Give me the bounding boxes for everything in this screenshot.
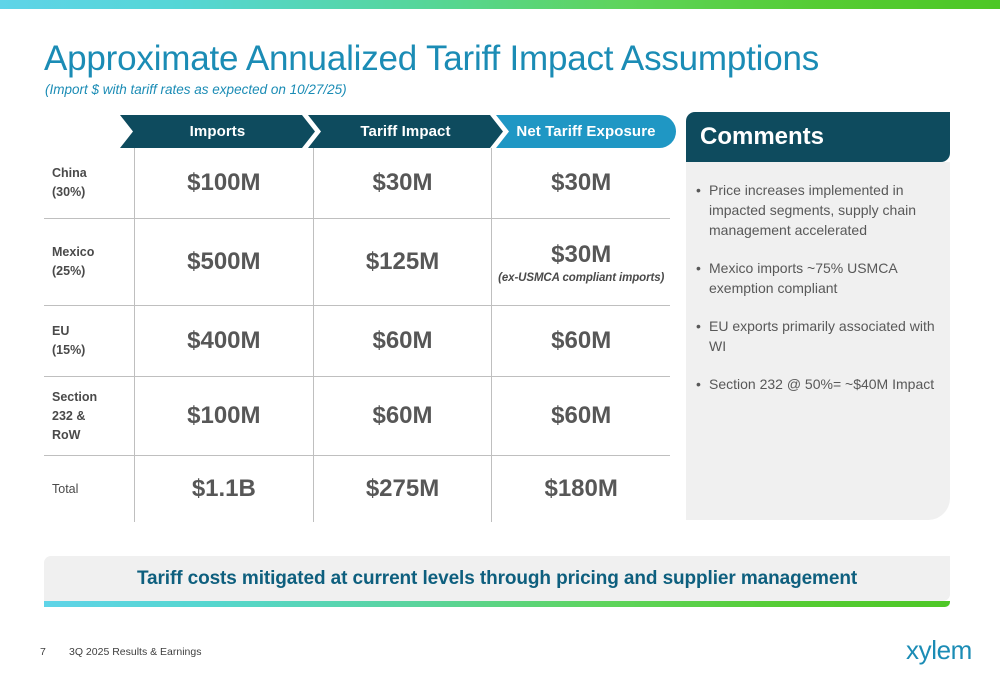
row-label-line1: Total xyxy=(52,480,134,499)
list-item-text: Section 232 @ 50%= ~$40M Impact xyxy=(709,374,938,394)
table-row-total: Total $1.1B $275M $180M xyxy=(44,455,670,522)
cell-imports: $500M xyxy=(134,219,313,305)
cell-tariff-impact: $60M xyxy=(313,377,492,455)
cell-net-exposure-value: $30M xyxy=(551,241,611,269)
list-item-text: Price increases implemented in impacted … xyxy=(709,180,938,240)
bullet-dot-icon: • xyxy=(696,258,709,298)
cell-net-exposure-total-value: $180M xyxy=(544,475,617,503)
comments-heading-label: Comments xyxy=(700,123,824,151)
table-row: China (30%) $100M $30M $30M xyxy=(44,148,670,218)
column-header-tariff-impact-label: Tariff Impact xyxy=(360,123,450,140)
row-label-section-232-row: Section 232 & RoW xyxy=(44,377,134,455)
cell-net-exposure: $60M xyxy=(491,377,670,455)
row-label-china: China (30%) xyxy=(44,148,134,218)
row-label-line2: (25%) xyxy=(52,262,134,281)
cell-imports: $100M xyxy=(134,148,313,218)
cell-imports-total: $1.1B xyxy=(134,456,313,522)
row-label-line1: Mexico xyxy=(52,243,134,262)
column-header-imports: Imports xyxy=(120,115,315,148)
row-label-eu: EU (15%) xyxy=(44,306,134,376)
summary-banner-text: Tariff costs mitigated at current levels… xyxy=(137,568,857,590)
cell-imports-total-value: $1.1B xyxy=(192,475,256,503)
column-header-net-tariff-exposure-label: Net Tariff Exposure xyxy=(516,123,655,140)
xylem-logo: xylem xyxy=(906,635,972,665)
bullet-dot-icon: • xyxy=(696,316,709,356)
cell-net-exposure-value: $60M xyxy=(551,402,611,430)
row-label-line1: Section xyxy=(52,388,134,407)
cell-tariff-impact-value: $125M xyxy=(366,248,439,276)
table-row: Section 232 & RoW $100M $60M $60M xyxy=(44,376,670,455)
bullet-dot-icon: • xyxy=(696,180,709,240)
cell-imports: $100M xyxy=(134,377,313,455)
column-header-tariff-impact: Tariff Impact xyxy=(308,115,503,148)
cell-net-exposure: $30M xyxy=(491,148,670,218)
list-item: • Section 232 @ 50%= ~$40M Impact xyxy=(696,374,938,394)
footer-deck-name: 3Q 2025 Results & Earnings xyxy=(69,646,202,658)
bullet-dot-icon: • xyxy=(696,374,709,394)
list-item: • Mexico imports ~75% USMCA exemption co… xyxy=(696,258,938,298)
page-number: 7 xyxy=(40,646,46,658)
cell-net-exposure-value: $60M xyxy=(551,327,611,355)
tariff-table: China (30%) $100M $30M $30M Mexico (25%)… xyxy=(44,148,670,522)
slide-canvas: Approximate Annualized Tariff Impact Ass… xyxy=(0,0,1000,685)
cell-tariff-impact-value: $60M xyxy=(372,327,432,355)
column-header-imports-label: Imports xyxy=(190,123,246,140)
comments-header: Comments xyxy=(686,112,950,162)
cell-net-exposure-total: $180M xyxy=(491,456,670,522)
cell-tariff-impact: $30M xyxy=(313,148,492,218)
banner-gradient-rule xyxy=(44,601,950,607)
row-label-line2: (15%) xyxy=(52,341,134,360)
list-item-text: EU exports primarily associated with WI xyxy=(709,316,938,356)
row-label-line1: China xyxy=(52,164,134,183)
cell-tariff-impact-total: $275M xyxy=(313,456,492,522)
cell-net-exposure: $60M xyxy=(491,306,670,376)
column-header-net-tariff-exposure: Net Tariff Exposure xyxy=(496,115,676,148)
comments-body: • Price increases implemented in impacte… xyxy=(686,162,950,520)
cell-net-exposure-value: $30M xyxy=(551,169,611,197)
row-label-line3: RoW xyxy=(52,426,134,445)
top-gradient-rule xyxy=(0,0,1000,9)
cell-imports: $400M xyxy=(134,306,313,376)
cell-imports-value: $100M xyxy=(187,169,260,197)
comments-panel: Comments • Price increases implemented i… xyxy=(686,112,950,520)
cell-net-exposure: $30M (ex-USMCA compliant imports) xyxy=(491,219,670,305)
row-label-line2: (30%) xyxy=(52,183,134,202)
summary-banner: Tariff costs mitigated at current levels… xyxy=(44,556,950,601)
row-label-line2: 232 & xyxy=(52,407,134,426)
cell-tariff-impact: $60M xyxy=(313,306,492,376)
cell-net-exposure-note: (ex-USMCA compliant imports) xyxy=(498,272,664,284)
list-item-text: Mexico imports ~75% USMCA exemption comp… xyxy=(709,258,938,298)
cell-imports-value: $100M xyxy=(187,402,260,430)
table-row: EU (15%) $400M $60M $60M xyxy=(44,305,670,376)
cell-imports-value: $400M xyxy=(187,327,260,355)
table-row: Mexico (25%) $500M $125M $30M (ex-USMCA … xyxy=(44,218,670,305)
cell-tariff-impact-value: $30M xyxy=(372,169,432,197)
row-label-line1: EU xyxy=(52,322,134,341)
page-title: Approximate Annualized Tariff Impact Ass… xyxy=(44,38,819,80)
cell-tariff-impact-total-value: $275M xyxy=(366,475,439,503)
page-subtitle: (Import $ with tariff rates as expected … xyxy=(45,82,347,97)
list-item: • Price increases implemented in impacte… xyxy=(696,180,938,240)
row-label-total: Total xyxy=(44,456,134,522)
cell-tariff-impact: $125M xyxy=(313,219,492,305)
row-label-mexico: Mexico (25%) xyxy=(44,219,134,305)
cell-imports-value: $500M xyxy=(187,248,260,276)
list-item: • EU exports primarily associated with W… xyxy=(696,316,938,356)
cell-tariff-impact-value: $60M xyxy=(372,402,432,430)
